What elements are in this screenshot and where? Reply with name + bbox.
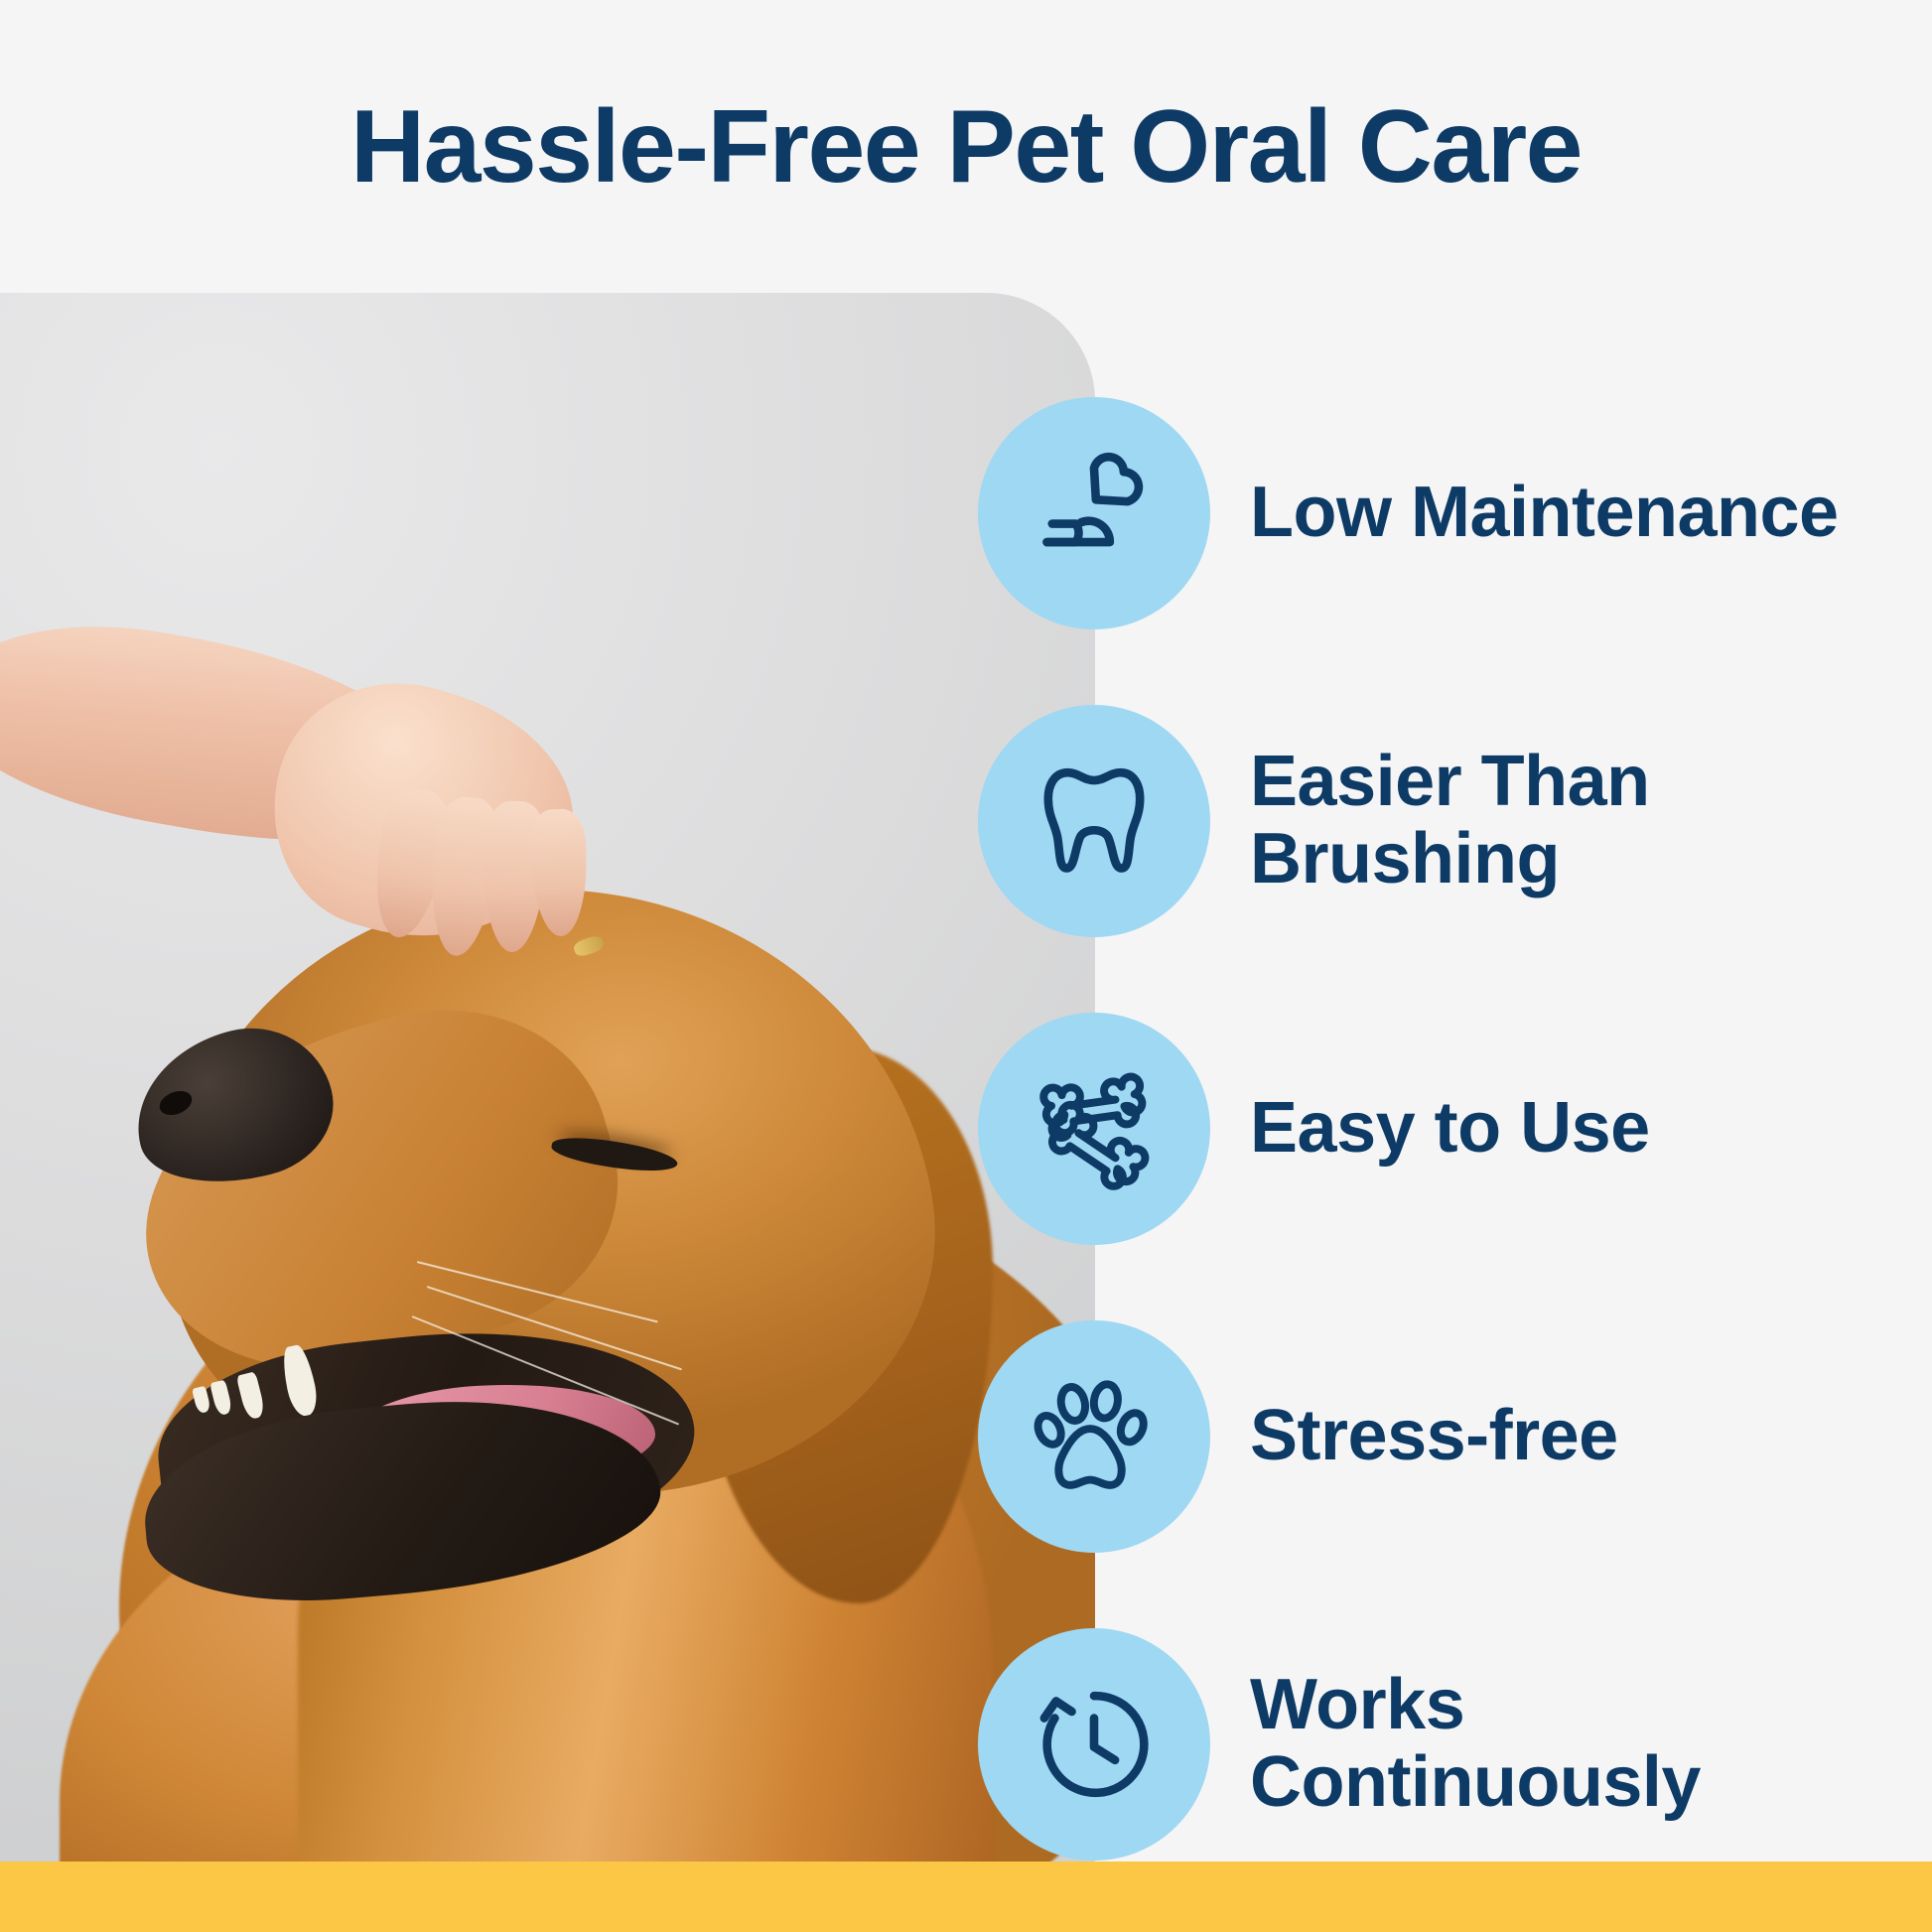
crossed-bones-icon: [978, 1013, 1210, 1245]
feature-item-low-maintenance[interactable]: Low Maintenance: [978, 397, 1911, 629]
feature-item-easier-than-brushing[interactable]: Easier Than Brushing: [978, 705, 1911, 937]
feature-item-easy-to-use[interactable]: Easy to Use: [978, 1013, 1911, 1245]
paw-print-icon: [978, 1320, 1210, 1553]
feature-label: Low Maintenance: [1250, 475, 1839, 552]
feature-item-works-continuously[interactable]: Works Continuously: [978, 1628, 1911, 1861]
feature-item-stress-free[interactable]: Stress-free: [978, 1320, 1911, 1553]
poster-root: Hassle-Free Pet Oral Care: [0, 0, 1932, 1932]
bottom-accent-bar: [0, 1862, 1932, 1932]
dog-photo-panel: [0, 293, 1095, 1862]
tooth-icon: [978, 705, 1210, 937]
heart-over-bowl-icon: [978, 397, 1210, 629]
feature-label: Easy to Use: [1250, 1090, 1650, 1168]
clock-refresh-icon: [978, 1628, 1210, 1861]
feature-label: Easier Than Brushing: [1250, 744, 1885, 898]
header: Hassle-Free Pet Oral Care: [0, 0, 1932, 293]
page-title: Hassle-Free Pet Oral Care: [350, 95, 1582, 199]
feature-label: Stress-free: [1250, 1398, 1618, 1475]
feature-label: Works Continuously: [1250, 1667, 1885, 1822]
